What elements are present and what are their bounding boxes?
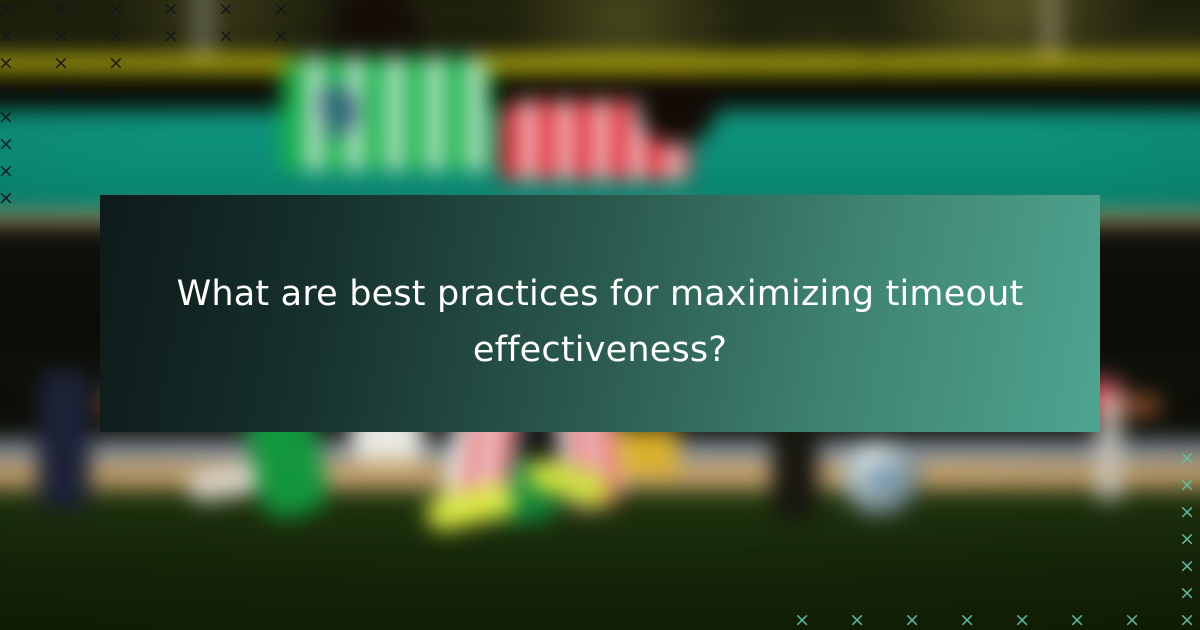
jersey-number: 9 xyxy=(316,82,359,144)
player-nine-jersey xyxy=(282,56,492,171)
soccer-ball-mark xyxy=(866,470,896,484)
social-card: 9 × × × × × × × × × × × × × × × × × × × … xyxy=(0,0,1200,630)
page-title: What are best practices for maximizing t… xyxy=(170,250,1030,378)
headline-overlay: What are best practices for maximizing t… xyxy=(100,195,1100,432)
player-red-head xyxy=(638,72,716,144)
player-leg-far xyxy=(38,370,90,510)
yellow-handrail xyxy=(0,56,1200,72)
grass-field xyxy=(0,490,1200,630)
